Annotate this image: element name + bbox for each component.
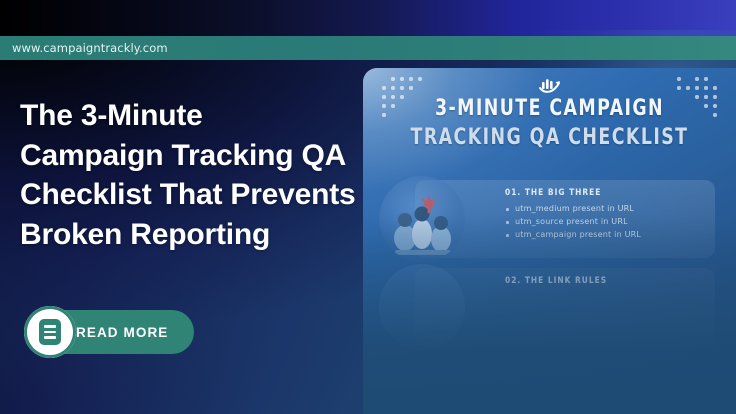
- checklist-section-title: 01. THE BIG THREE: [505, 188, 695, 198]
- checklist-section-1: 01. THE BIG THREE utm_medium present in …: [505, 188, 711, 242]
- headline-line-2: Campaign Tracking QA: [20, 136, 440, 176]
- headline-line-4: Broken Reporting: [20, 215, 440, 255]
- read-more-label: READ MORE: [76, 325, 168, 340]
- background-top-strip: [0, 0, 736, 36]
- link-rules-illustration: [379, 264, 465, 350]
- headline-line-3: Checklist That Prevents: [20, 175, 440, 215]
- checklist-section-title: 02. THE LINK RULES: [505, 276, 695, 286]
- document-lines-icon[interactable]: [24, 306, 76, 358]
- document-glyph: [39, 319, 61, 345]
- page-title: The 3-Minute Campaign Tracking QA Checkl…: [20, 96, 440, 254]
- promo-banner: www.campaigntrackly.com: [0, 0, 736, 414]
- checklist-section-2: 02. THE LINK RULES: [505, 276, 711, 291]
- url-text: www.campaigntrackly.com: [12, 41, 168, 55]
- checklist-item: utm_source present in URL: [505, 216, 711, 229]
- headline-line-1: The 3-Minute: [20, 96, 440, 136]
- url-bar[interactable]: www.campaigntrackly.com: [0, 36, 736, 60]
- checklist-item: utm_medium present in URL: [505, 203, 711, 216]
- checklist-item: utm_campaign present in URL: [505, 229, 711, 242]
